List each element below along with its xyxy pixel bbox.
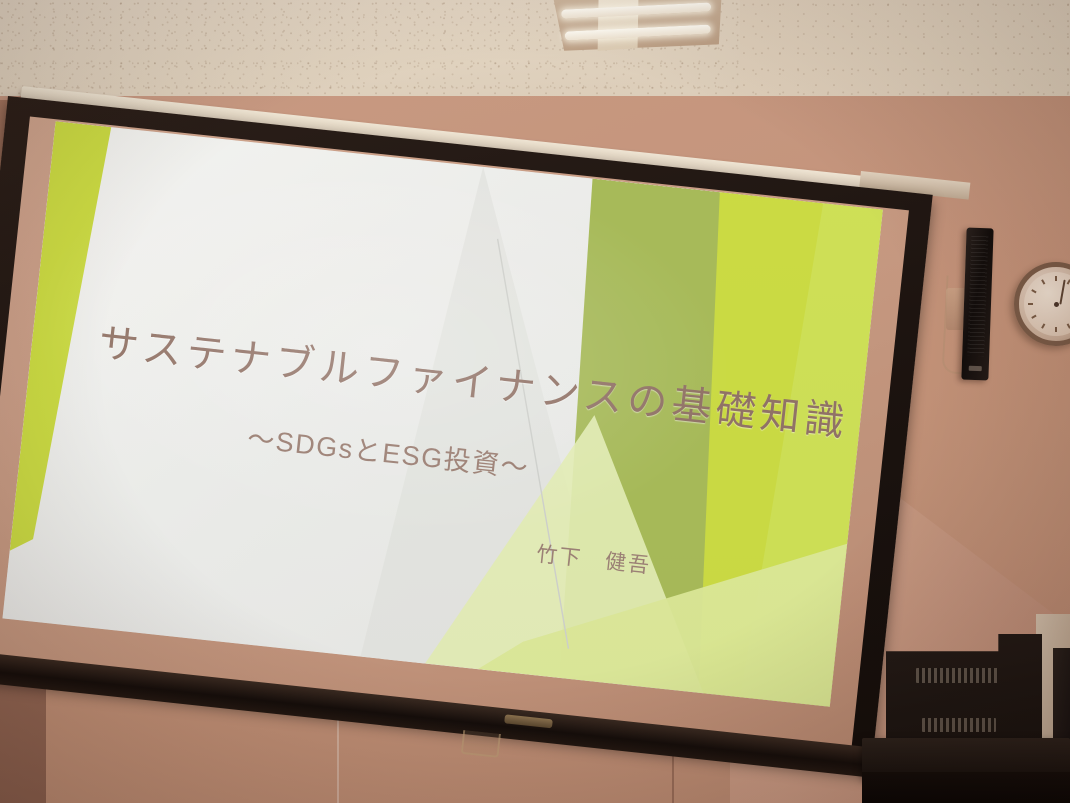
speaker-grille [967,236,988,357]
slide-text-block: サステナブルファイナンスの基礎知識 〜SDGsとESG投資〜 竹下 健吾 [2,121,882,707]
clock-face [1024,272,1070,336]
speaker-logo [969,366,982,371]
screen-surface[interactable]: サステナブルファイナンスの基礎知識 〜SDGsとESG投資〜 竹下 健吾 [2,121,882,707]
slide-subtitle: 〜SDGsとESG投資〜 [246,416,532,485]
slide-title: サステナブルファイナンスの基礎知識 [96,310,852,448]
screen-pull-handle[interactable] [461,730,501,758]
cabinet-vent-upper [916,668,998,683]
slide-author: 竹下 健吾 [535,537,653,579]
desk-front [862,772,1070,803]
projection-screen[interactable]: サステナブルファイナンスの基礎知識 〜SDGsとESG投資〜 竹下 健吾 [0,96,933,772]
photo-scene: サステナブルファイナンスの基礎知識 〜SDGsとESG投資〜 竹下 健吾 [0,0,1070,803]
clock-tick [1055,304,1057,332]
wall-speaker [961,228,993,381]
clock-center-cap [1054,302,1059,307]
presentation-slide: サステナブルファイナンスの基礎知識 〜SDGsとESG投資〜 竹下 健吾 [2,121,882,707]
cabinet-vent-lower [922,718,996,732]
